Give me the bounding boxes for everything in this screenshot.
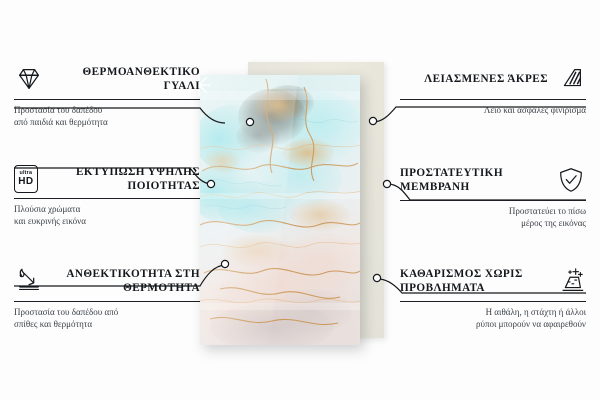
feature-description: Η αιθάλη, η στάχτη ή άλλοι ρύποι μπορούν… [400, 307, 586, 330]
diamond-icon [14, 64, 44, 94]
feature-polished-edges: ΛΕΙΑΣΜΕΝΕΣ ΆΚΡΕΣ Λείο και ασφαλές φινίρι… [400, 64, 586, 117]
product-glass-panel [200, 75, 360, 345]
feature-title: ΕΚΤΥΠΩΣΗ ΥΨΗΛΗΣ ΠΟΙΟΤΗΤΑΣ [46, 165, 200, 193]
feature-description: Προστατεύει το πίσω μέρος της εικόνας [400, 206, 586, 229]
feature-title: ΑΝΘΕΚΤΙΚΟΤΗΤΑ ΣΤΗ ΘΕΡΜΟΤΗΤΑ [52, 267, 200, 295]
feature-protective-membrane: ΠΡΟΣΤΑΤΕΥΤΙΚΗ ΜΕΜΒΡΑΝΗ Προστατεύει το πί… [400, 165, 586, 229]
desc-line-1: Πλούσια χρώματα [14, 204, 200, 216]
polished-edge-icon [556, 64, 586, 94]
feature-title: ΠΡΟΣΤΑΤΕΥΤΙΚΗ ΜΕΜΒΡΑΝΗ [400, 166, 548, 194]
feature-easy-cleaning: ΚΑΘΑΡΙΣΜΟΣ ΧΩΡΙΣ ΠΡΟΒΛΗΜΑΤΑ Η αιθάλη, η … [400, 266, 586, 330]
desc-line-1: Η αιθάλη, η στάχτη ή άλλοι [400, 307, 586, 319]
feature-rule [400, 301, 586, 302]
feature-rule [14, 301, 200, 302]
feature-rule [400, 200, 586, 201]
feature-title: ΘΕΡΜΟΑΝΘΕΚΤΙΚΟ ΓΥΑΛΙ [52, 65, 200, 93]
feature-description: Λείο και ασφαλές φινίρισμα [400, 105, 586, 117]
feature-heat-resistance: ΑΝΘΕΚΤΙΚΟΤΗΤΑ ΣΤΗ ΘΕΡΜΟΤΗΤΑ Προστασία το… [14, 266, 200, 330]
desc-line-1: Προστατεύει το πίσω [400, 206, 586, 218]
feature-thermal-glass: ΘΕΡΜΟΑΝΘΕΚΤΙΚΟ ΓΥΑΛΙ Προστασία του δαπέδ… [14, 64, 200, 128]
desc-line-2: ρύποι μπορούν να αφαιρεθούν [400, 319, 586, 331]
flame-deflect-icon [14, 266, 44, 296]
shield-check-icon [556, 165, 586, 195]
sponge-sparkle-icon [556, 266, 586, 296]
desc-line-1: Λείο και ασφαλές φινίρισμα [400, 105, 586, 117]
feature-rule [400, 99, 586, 100]
desc-line-1: Προστασία του δαπέδου από [14, 307, 200, 319]
feature-title: ΛΕΙΑΣΜΕΝΕΣ ΆΚΡΕΣ [424, 72, 548, 86]
feature-title: ΚΑΘΑΡΙΣΜΟΣ ΧΩΡΙΣ ΠΡΟΒΛΗΜΑΤΑ [400, 267, 548, 295]
infographic-stage: ΘΕΡΜΟΑΝΘΕΚΤΙΚΟ ΓΥΑΛΙ Προστασία του δαπέδ… [0, 0, 600, 400]
desc-line-2: μέρος της εικόνας [400, 218, 586, 230]
feature-rule [14, 198, 200, 199]
feature-rule [14, 99, 200, 100]
desc-line-2: και ευκρινής εικόνα [14, 216, 200, 228]
ultra-hd-icon: ultra HD [14, 165, 38, 193]
badge-hd-label: HD [18, 177, 33, 187]
feature-description: Πλούσια χρώματα και ευκρινής εικόνα [14, 204, 200, 227]
desc-line-2: από παιδιά και θερμότητα [14, 117, 200, 129]
feature-description: Προστασία του δαπέδου από παιδιά και θερ… [14, 105, 200, 128]
callout-dot-membrane [383, 180, 390, 187]
feature-high-quality-print: ultra HD ΕΚΤΥΠΩΣΗ ΥΨΗΛΗΣ ΠΟΙΟΤΗΤΑΣ Πλούσ… [14, 165, 200, 227]
marble-artwork [200, 75, 360, 345]
feature-description: Προστασία του δαπέδου από σπίθες και θερ… [14, 307, 200, 330]
desc-line-1: Προστασία του δαπέδου [14, 105, 200, 117]
desc-line-2: σπίθες και θερμότητα [14, 319, 200, 331]
